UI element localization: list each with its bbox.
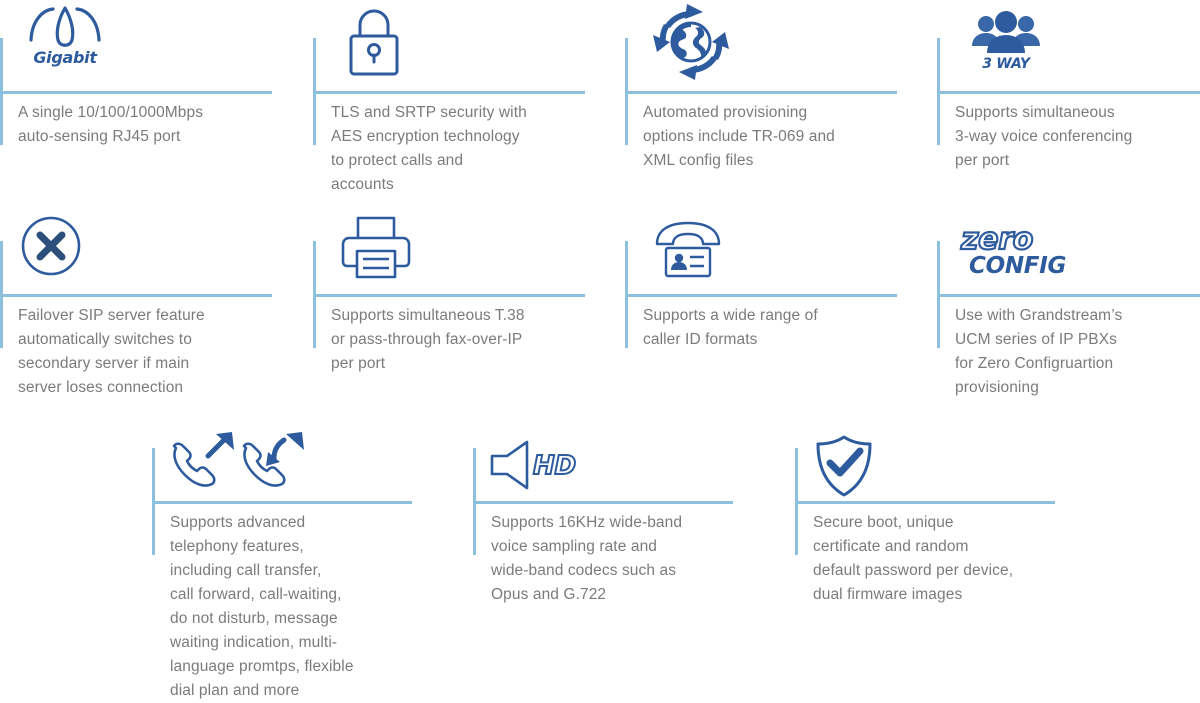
feature-description: TLS and SRTP security with AES encryptio… bbox=[331, 101, 593, 197]
globe-provisioning-icon bbox=[651, 2, 731, 82]
cell-rule-horizontal bbox=[625, 91, 897, 94]
feature-grid: Gigabit A single 10/100/1000Mbps auto-se… bbox=[0, 0, 1200, 687]
hd-logo-text: HD bbox=[533, 451, 576, 481]
caller-id-icon bbox=[653, 221, 723, 281]
fax-printer-icon bbox=[341, 215, 411, 281]
feature-cell-zero-config: zero CONFIG Use with Grandstream’s UCM s… bbox=[937, 203, 1200, 418]
feature-description: Supports advanced telephony features, in… bbox=[170, 511, 422, 703]
x-circle-icon bbox=[20, 215, 82, 277]
padlock-icon bbox=[343, 6, 405, 78]
config-logo-text: CONFIG bbox=[969, 253, 1066, 279]
feature-description: Supports 16KHz wide-band voice sampling … bbox=[491, 511, 743, 607]
cell-rule-horizontal bbox=[625, 294, 897, 297]
cell-rule-horizontal bbox=[152, 501, 412, 504]
cell-rule-horizontal bbox=[0, 294, 272, 297]
feature-description: Secure boot, unique certificate and rand… bbox=[813, 511, 1071, 607]
feature-description: Failover SIP server feature automaticall… bbox=[18, 304, 286, 400]
cell-rule-horizontal bbox=[937, 91, 1200, 94]
cell-rule-horizontal bbox=[795, 501, 1055, 504]
cell-rule-horizontal bbox=[0, 91, 272, 94]
feature-cell-secure-boot: Secure boot, unique certificate and rand… bbox=[795, 430, 1095, 687]
feature-description: Use with Grandstream’s UCM series of IP … bbox=[955, 304, 1200, 400]
hd-speaker-icon: HD bbox=[489, 440, 585, 492]
feature-cell-failover: Failover SIP server feature automaticall… bbox=[0, 203, 300, 418]
feature-cell-telephony: Supports advanced telephony features, in… bbox=[152, 430, 452, 687]
feature-cell-three-way: 3 WAY Supports simultaneous 3-way voice … bbox=[937, 0, 1200, 200]
feature-cell-fax: Supports simultaneous T.38 or pass-throu… bbox=[313, 203, 613, 418]
feature-cell-gigabit: Gigabit A single 10/100/1000Mbps auto-se… bbox=[0, 0, 300, 200]
three-way-logo-text: 3 WAY bbox=[982, 56, 1032, 72]
shield-check-icon bbox=[813, 434, 875, 498]
gigabit-logo-text: Gigabit bbox=[33, 48, 98, 67]
feature-description: A single 10/100/1000Mbps auto-sensing RJ… bbox=[18, 101, 280, 149]
feature-cell-hd-audio: HD Supports 16KHz wide-band voice sampli… bbox=[473, 430, 773, 687]
feature-description: Supports simultaneous 3-way voice confer… bbox=[955, 101, 1200, 173]
feature-description: Supports a wide range of caller ID forma… bbox=[643, 304, 911, 352]
zero-logo-text: zero bbox=[960, 222, 1033, 257]
gigabit-arch-icon: Gigabit bbox=[22, 2, 108, 68]
call-transfer-forward-icon bbox=[168, 430, 308, 492]
cell-rule-horizontal bbox=[473, 501, 733, 504]
feature-description: Supports simultaneous T.38 or pass-throu… bbox=[331, 304, 599, 376]
three-users-icon: 3 WAY bbox=[967, 8, 1045, 70]
cell-rule-horizontal bbox=[313, 294, 585, 297]
feature-cell-caller-id: Supports a wide range of caller ID forma… bbox=[625, 203, 925, 418]
zero-config-icon: zero CONFIG bbox=[959, 223, 1069, 279]
feature-cell-security: TLS and SRTP security with AES encryptio… bbox=[313, 0, 613, 200]
feature-description: Automated provisioning options include T… bbox=[643, 101, 911, 173]
cell-rule-horizontal bbox=[313, 91, 585, 94]
cell-rule-horizontal bbox=[937, 294, 1200, 297]
feature-cell-provisioning: Automated provisioning options include T… bbox=[625, 0, 925, 200]
